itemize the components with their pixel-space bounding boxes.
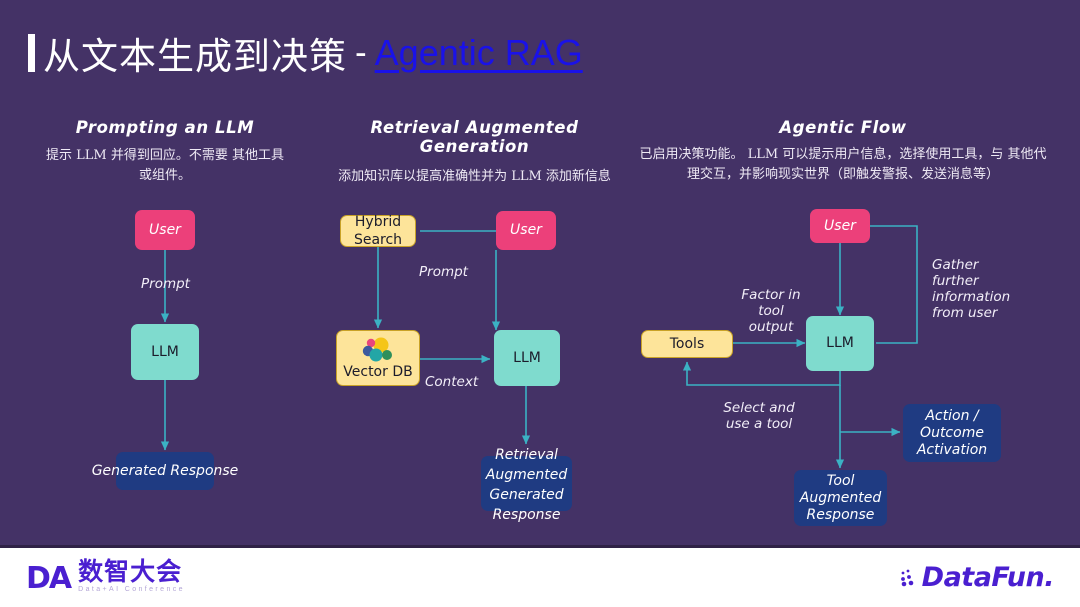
title-accent-bar bbox=[28, 34, 35, 72]
node-user[interactable]: User bbox=[810, 209, 870, 243]
node-label: LLM bbox=[151, 344, 179, 361]
edge-label-prompt: Prompt bbox=[419, 264, 539, 280]
edge-label-gather-info: Gather further information from user bbox=[932, 257, 1042, 321]
slide-canvas: 从文本生成到决策 - Agentic RAG Prompting an LLM … bbox=[0, 0, 1080, 607]
logo-data-ai-conference: DA 数智大会 Data+AI Conference bbox=[26, 559, 185, 594]
column-heading-text: Prompting an LLM bbox=[45, 118, 285, 137]
column-subtitle: 已启用决策功能。 LLM 可以提示用户信息，选择使用工具，与 其他代理交互，并影… bbox=[636, 145, 1050, 185]
column-heading-agentic: Agentic Flow 已启用决策功能。 LLM 可以提示用户信息，选择使用工… bbox=[636, 118, 1050, 185]
vector-db-cluster-icon bbox=[361, 337, 395, 363]
column-subtitle: 添加知识库以提高准确性并为 LLM 添加新信息 bbox=[322, 167, 627, 187]
column-heading-text: Agentic Flow bbox=[636, 118, 1050, 137]
node-llm[interactable]: LLM bbox=[806, 316, 874, 371]
column-heading-rag: Retrieval Augmented Generation 添加知识库以提高准… bbox=[322, 118, 627, 187]
edge-label-context: Context bbox=[425, 374, 545, 390]
title-separator: - bbox=[355, 33, 367, 73]
node-label: Generated Response bbox=[92, 463, 239, 480]
node-action-outcome[interactable]: Action / Outcome Activation bbox=[903, 404, 1001, 462]
column-heading-prompting: Prompting an LLM 提示 LLM 并得到回应。不需要 其他工具或组… bbox=[45, 118, 285, 186]
node-llm[interactable]: LLM bbox=[131, 324, 199, 380]
node-label: User bbox=[510, 222, 542, 239]
node-user[interactable]: User bbox=[496, 211, 556, 250]
column-subtitle: 提示 LLM 并得到回应。不需要 其他工具或组件。 bbox=[45, 146, 285, 186]
node-tool-augmented-response[interactable]: Tool Augmented Response bbox=[794, 470, 887, 526]
node-generated-response[interactable]: Generated Response bbox=[116, 452, 214, 490]
logo-datafun: DataFun. bbox=[900, 564, 1054, 591]
node-tools[interactable]: Tools bbox=[641, 330, 733, 358]
title-link[interactable]: Agentic RAG bbox=[375, 32, 583, 74]
logo-name-english: Data+AI Conference bbox=[78, 585, 185, 594]
node-hybrid-search[interactable]: Hybrid Search bbox=[340, 215, 416, 247]
edge-label-factor-in-tool-output: Factor in tool output bbox=[727, 287, 815, 335]
node-vector-db[interactable]: Vector DB bbox=[336, 330, 420, 386]
node-rag-response[interactable]: Retrieval Augmented Generated Response bbox=[481, 456, 572, 511]
datafun-dots-icon bbox=[900, 568, 922, 588]
node-label: Vector DB bbox=[338, 365, 418, 380]
node-label: Retrieval Augmented Generated Response bbox=[484, 445, 569, 525]
edge-label-prompt: Prompt bbox=[141, 276, 261, 292]
node-label: Tool Augmented Response bbox=[800, 473, 881, 524]
node-label: User bbox=[149, 222, 181, 239]
edge-label-select-use-tool: Select and use a tool bbox=[709, 400, 809, 432]
node-user[interactable]: User bbox=[135, 210, 195, 250]
node-label: Action / Outcome Activation bbox=[917, 408, 987, 459]
page-title: 从文本生成到决策 - Agentic RAG bbox=[28, 26, 583, 80]
logo-name-chinese: 数智大会 bbox=[78, 557, 182, 586]
footer-bar: DA 数智大会 Data+AI Conference DataFun. bbox=[0, 545, 1080, 607]
node-label: LLM bbox=[826, 335, 854, 352]
node-label: LLM bbox=[513, 350, 541, 367]
column-heading-text: Retrieval Augmented Generation bbox=[322, 118, 627, 156]
node-label: Tools bbox=[670, 336, 705, 353]
node-label: Hybrid Search bbox=[350, 213, 406, 249]
title-chinese: 从文本生成到决策 bbox=[43, 26, 347, 80]
node-label: User bbox=[824, 218, 856, 235]
logo-name-datafun: DataFun. bbox=[922, 564, 1054, 591]
logo-mark-da: DA bbox=[26, 564, 70, 594]
